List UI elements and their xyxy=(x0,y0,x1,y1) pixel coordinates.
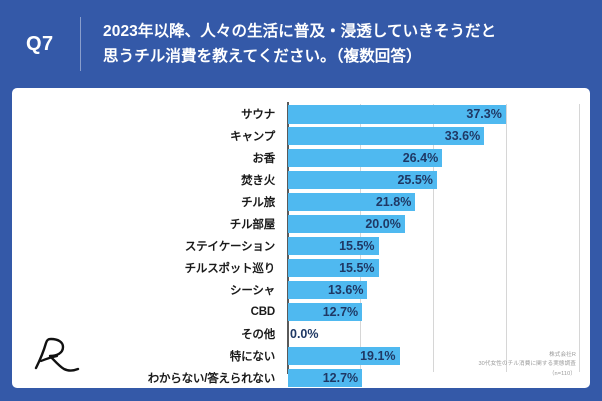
bar-row: お香26.4% xyxy=(22,148,580,169)
bar-track: 15.5% xyxy=(288,258,580,279)
question-number: Q7 xyxy=(26,33,80,56)
bar-value-label: 26.4% xyxy=(403,149,438,168)
bar-value-label: 20.0% xyxy=(365,215,400,234)
bar-category-label: チルスポット巡り xyxy=(22,260,282,276)
bar-row: シーシャ13.6% xyxy=(22,280,580,301)
bar-value-label: 21.8% xyxy=(376,193,411,212)
bar-value-label: 15.5% xyxy=(339,237,374,256)
bar-value-label: 33.6% xyxy=(445,127,480,146)
bar-row: チル部屋20.0% xyxy=(22,214,580,235)
bar-category-label: チル旅 xyxy=(22,194,282,210)
plot-area: サウナ37.3%キャンプ33.6%お香26.4%焚き火25.5%チル旅21.8%… xyxy=(22,98,580,382)
bar-rows: サウナ37.3%キャンプ33.6%お香26.4%焚き火25.5%チル旅21.8%… xyxy=(22,104,580,390)
bar-track: 25.5% xyxy=(288,170,580,191)
bar-row: チルスポット巡り15.5% xyxy=(22,258,580,279)
bar-value-label: 37.3% xyxy=(466,105,501,124)
bar-track: 37.3% xyxy=(288,104,580,125)
question-title-line-1: 2023年以降、人々の生活に普及・浸透していきそうだと xyxy=(103,19,496,44)
script-r-logo xyxy=(28,334,82,380)
bar-row: その他0.0% xyxy=(22,324,580,345)
header-divider xyxy=(80,17,81,71)
bar-category-label: サウナ xyxy=(22,106,282,122)
survey-credit: 株式会社R 30代女性のチル消費に関する実態調査 （n=110） xyxy=(478,351,576,380)
bar-track: 33.6% xyxy=(288,126,580,147)
bar-track: 20.0% xyxy=(288,214,580,235)
bar-category-label: 焚き火 xyxy=(22,172,282,188)
bar-category-label: お香 xyxy=(22,150,282,166)
bar-track: 26.4% xyxy=(288,148,580,169)
question-title: 2023年以降、人々の生活に普及・浸透していきそうだと 思うチル消費を教えてくだ… xyxy=(103,19,496,69)
bar-value-label: 19.1% xyxy=(360,347,395,366)
credit-company: 株式会社R xyxy=(478,351,576,361)
bar-category-label: シーシャ xyxy=(22,282,282,298)
question-header: Q7 2023年以降、人々の生活に普及・浸透していきそうだと 思うチル消費を教え… xyxy=(0,0,602,88)
bar-row: キャンプ33.6% xyxy=(22,126,580,147)
chart-card: サウナ37.3%キャンプ33.6%お香26.4%焚き火25.5%チル旅21.8%… xyxy=(12,88,590,388)
bar-row: 焚き火25.5% xyxy=(22,170,580,191)
bar-row: CBD12.7% xyxy=(22,302,580,323)
bar-category-label: ステイケーション xyxy=(22,238,282,254)
bar-track: 21.8% xyxy=(288,192,580,213)
bar-track: 12.7% xyxy=(288,302,580,323)
bar-track: 15.5% xyxy=(288,236,580,257)
bar-value-label: 12.7% xyxy=(323,369,358,388)
credit-survey-name: 30代女性のチル消費に関する実態調査 xyxy=(478,360,576,370)
bar-value-label: 15.5% xyxy=(339,259,374,278)
bar-chart: サウナ37.3%キャンプ33.6%お香26.4%焚き火25.5%チル旅21.8%… xyxy=(22,98,580,382)
bar-category-label: チル部屋 xyxy=(22,216,282,232)
question-title-line-2: 思うチル消費を教えてください。（複数回答） xyxy=(103,44,496,69)
bar-category-label: CBD xyxy=(22,306,282,318)
bar-track: 0.0% xyxy=(288,324,580,345)
bar-track: 13.6% xyxy=(288,280,580,301)
bar-value-label: 12.7% xyxy=(323,303,358,322)
bar-row: チル旅21.8% xyxy=(22,192,580,213)
bar-value-label: 0.0% xyxy=(290,325,319,344)
credit-sample-size: （n=110） xyxy=(478,370,576,380)
bar-value-label: 25.5% xyxy=(397,171,432,190)
bar-row: ステイケーション15.5% xyxy=(22,236,580,257)
bar-value-label: 13.6% xyxy=(328,281,363,300)
bar-row: サウナ37.3% xyxy=(22,104,580,125)
bar-category-label: キャンプ xyxy=(22,128,282,144)
